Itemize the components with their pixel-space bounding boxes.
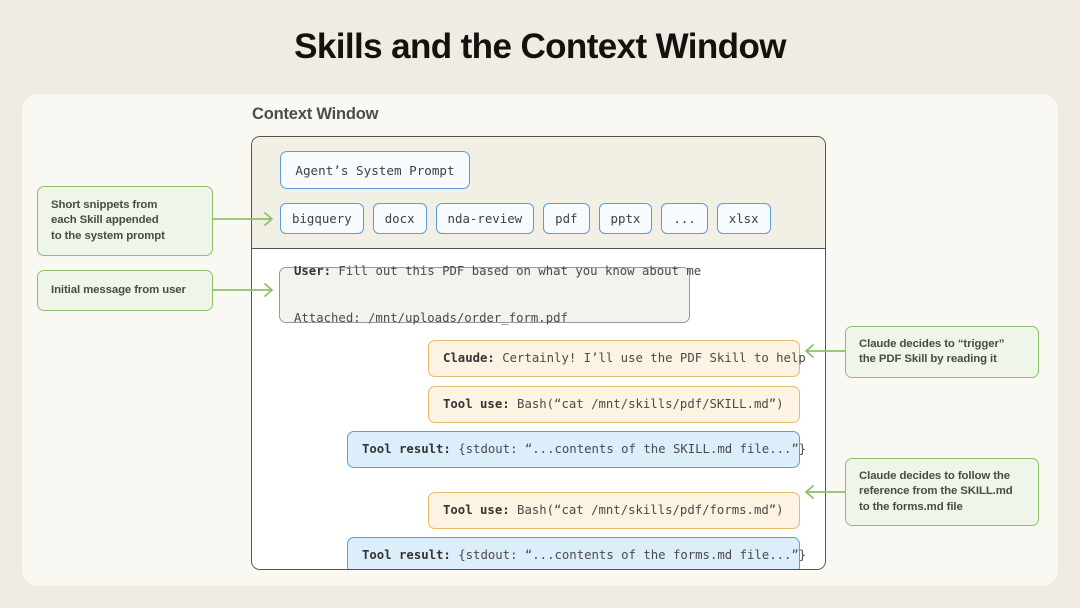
skill-chip-bigquery[interactable]: bigquery	[280, 203, 364, 234]
skill-chip-nda-review[interactable]: nda-review	[436, 203, 535, 234]
skill-chip-ellipsis[interactable]: ...	[661, 203, 707, 234]
annotation-follow-reference-line1: Claude decides to follow the	[859, 469, 1013, 485]
message-claude-text: Certainly! I’ll use the PDF Skill to hel…	[495, 351, 806, 367]
message-tool-result-skill-md-text: {stdout: “...contents of the SKILL.md fi…	[451, 442, 806, 458]
annotation-skill-snippets: Short snippets from each Skill appended …	[37, 186, 213, 256]
annotation-trigger-pdf-skill: Claude decides to “trigger” the PDF Skil…	[845, 326, 1039, 378]
context-window-container: Agent’s System Prompt bigquery docx nda-…	[251, 136, 826, 570]
message-tool-use-skill-md-speaker: Tool use:	[443, 397, 510, 413]
page-title: Skills and the Context Window	[0, 27, 1080, 67]
agent-system-prompt-box: Agent’s System Prompt	[280, 151, 470, 189]
annotation-trigger-pdf-skill-line2: the PDF Skill by reading it	[859, 352, 1004, 368]
message-tool-result-skill-md: Tool result: {stdout: “...contents of th…	[347, 431, 800, 468]
message-tool-result-forms-md: Tool result: {stdout: “...contents of th…	[347, 537, 800, 570]
annotation-follow-reference: Claude decides to follow the reference f…	[845, 458, 1039, 526]
annotation-skill-snippets-line3: to the system prompt	[51, 229, 165, 245]
message-claude-speaker: Claude:	[443, 351, 495, 367]
annotation-skill-snippets-line2: each Skill appended	[51, 213, 165, 229]
skill-chip-pdf[interactable]: pdf	[543, 203, 589, 234]
annotation-initial-message-line1: Initial message from user	[51, 283, 186, 299]
conversation-section: User: Fill out this PDF based on what yo…	[252, 249, 825, 569]
message-claude: Claude: Certainly! I’ll use the PDF Skil…	[428, 340, 800, 377]
skill-chip-pptx[interactable]: pptx	[599, 203, 653, 234]
annotation-initial-message: Initial message from user	[37, 270, 213, 311]
message-user-line1: Fill out this PDF based on what you know…	[331, 264, 701, 278]
message-tool-use-skill-md-text: Bash(“cat /mnt/skills/pdf/SKILL.md”)	[510, 397, 784, 413]
context-window-label: Context Window	[252, 105, 378, 124]
skill-chip-docx[interactable]: docx	[373, 203, 427, 234]
message-user: User: Fill out this PDF based on what yo…	[279, 267, 690, 323]
message-tool-result-forms-md-text: {stdout: “...contents of the forms.md fi…	[451, 548, 806, 564]
annotation-follow-reference-line2: reference from the SKILL.md	[859, 484, 1013, 500]
annotation-follow-reference-line3: to the forms.md file	[859, 500, 1013, 516]
annotation-skill-snippets-line1: Short snippets from	[51, 198, 165, 214]
skill-chip-list: bigquery docx nda-review pdf pptx ... xl…	[280, 203, 771, 234]
message-tool-result-skill-md-speaker: Tool result:	[362, 442, 451, 458]
skill-chip-xlsx[interactable]: xlsx	[717, 203, 771, 234]
message-user-speaker: User:	[294, 264, 331, 278]
message-user-line2: Attached: /mnt/uploads/order_form.pdf	[294, 311, 701, 327]
message-tool-result-forms-md-speaker: Tool result:	[362, 548, 451, 564]
message-tool-use-forms-md-text: Bash(“cat /mnt/skills/pdf/forms.md”)	[510, 503, 784, 519]
annotation-trigger-pdf-skill-line1: Claude decides to “trigger”	[859, 337, 1004, 353]
message-tool-use-forms-md-speaker: Tool use:	[443, 503, 510, 519]
message-tool-use-skill-md: Tool use: Bash(“cat /mnt/skills/pdf/SKIL…	[428, 386, 800, 423]
message-tool-use-forms-md: Tool use: Bash(“cat /mnt/skills/pdf/form…	[428, 492, 800, 529]
